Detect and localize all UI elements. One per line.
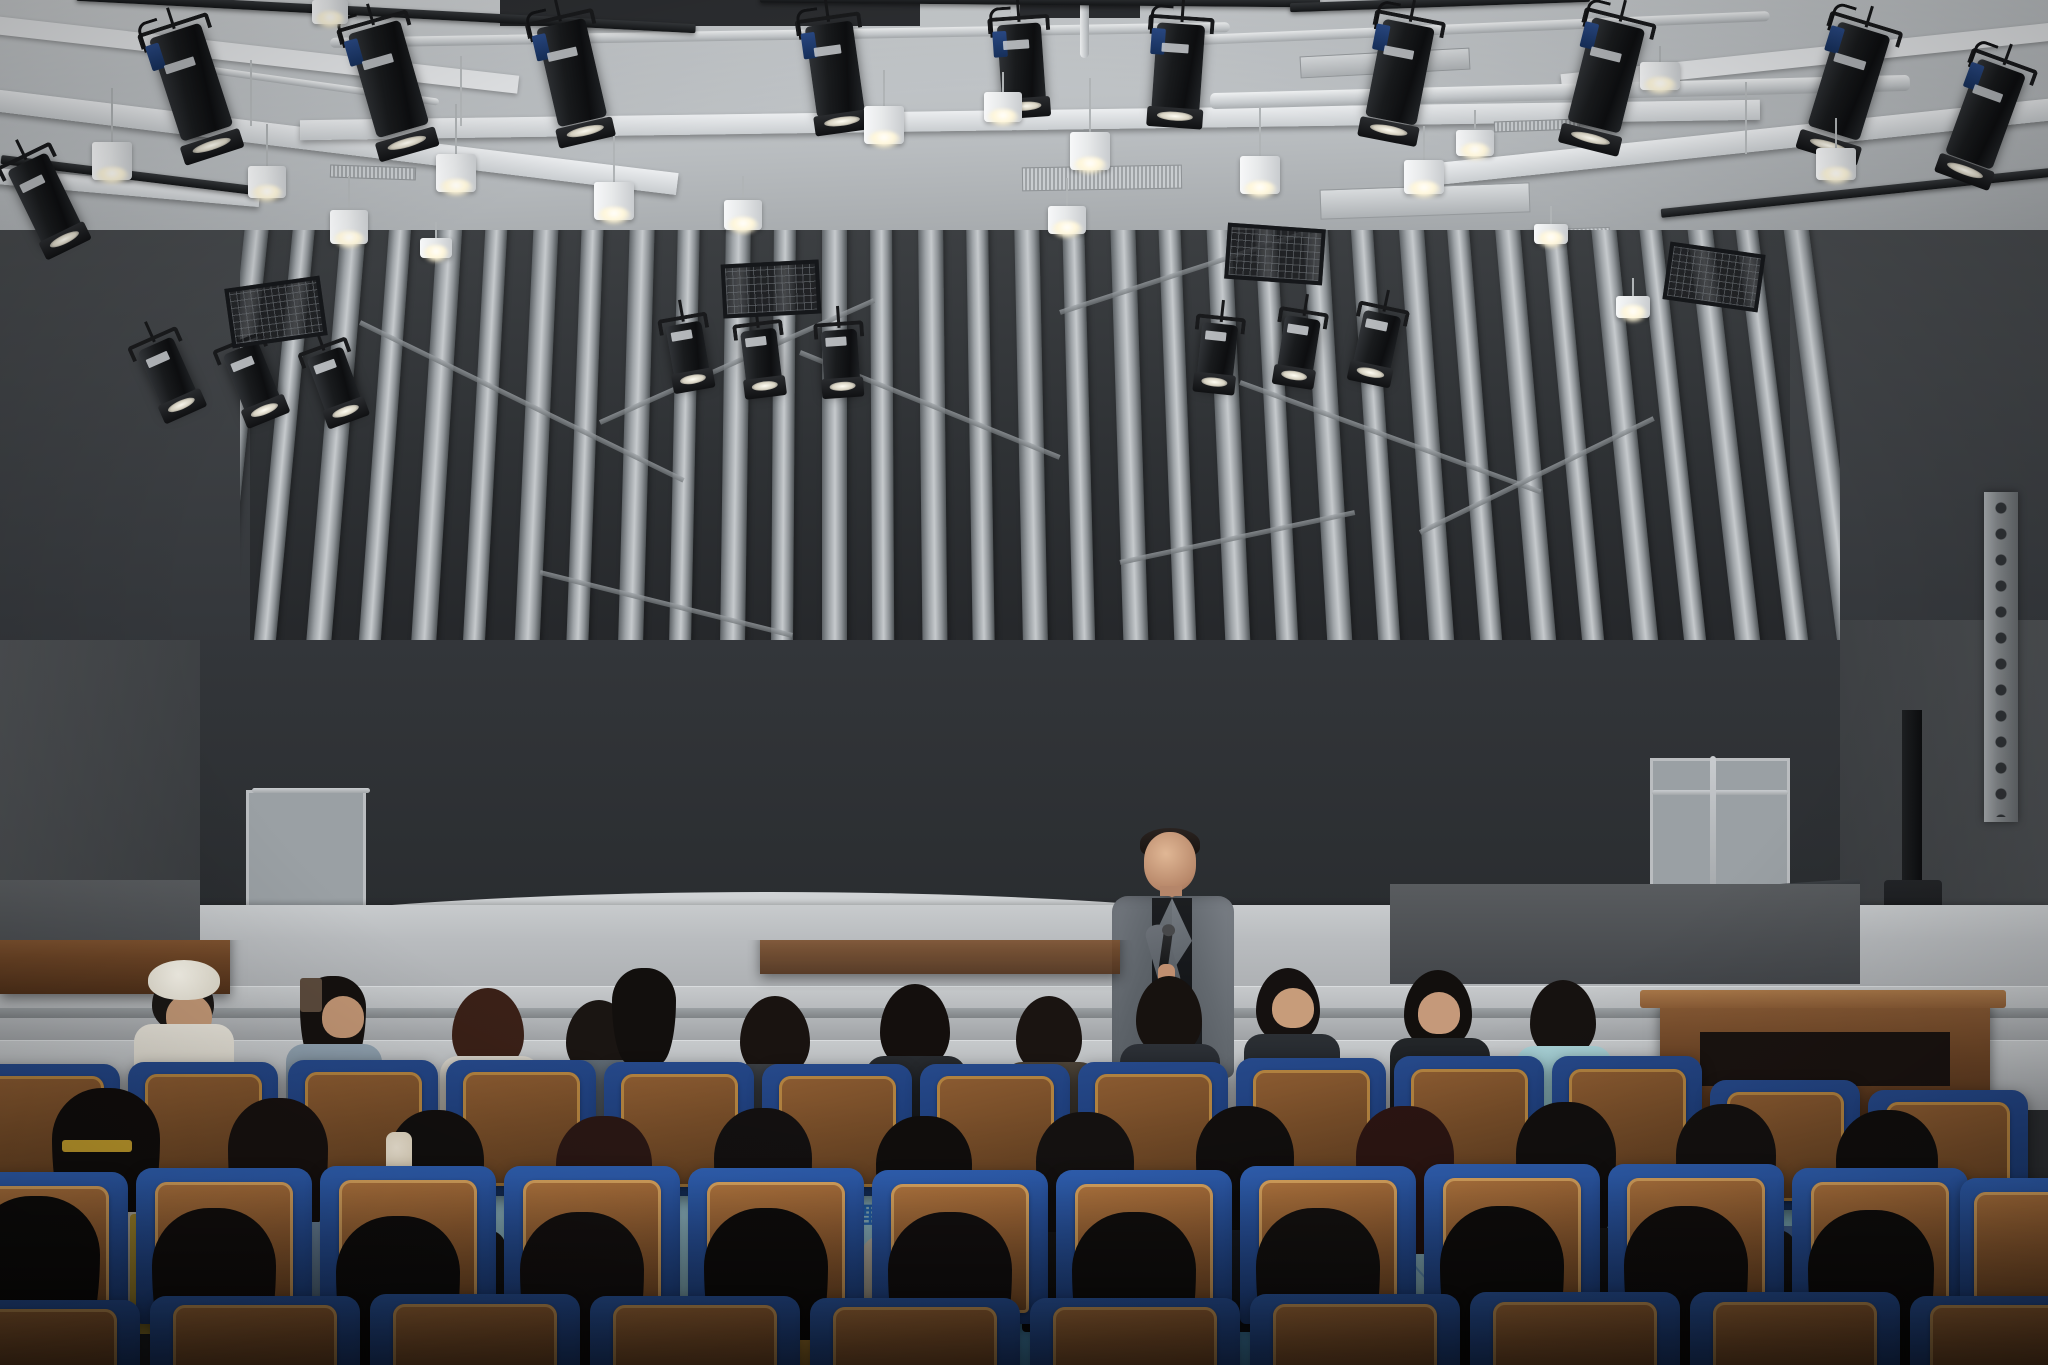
ceiling-downlight — [1816, 118, 1856, 180]
ceiling-downlight — [724, 176, 762, 230]
ceiling-downlight — [984, 72, 1022, 122]
audience-seat[interactable] — [1030, 1298, 1240, 1365]
audience-person-face — [1418, 992, 1460, 1034]
ceiling-downlight — [92, 88, 132, 180]
audience-person-head — [1136, 976, 1202, 1054]
audience-person-head — [1016, 996, 1082, 1072]
ceiling-downlight — [1534, 206, 1568, 244]
ceiling-downlight — [1616, 278, 1650, 318]
audience-seat[interactable] — [1250, 1294, 1460, 1365]
audience-seat[interactable] — [1470, 1292, 1680, 1365]
auditorium-photo-scene: 经济管理学院 2024届毕业生就业推进会 经济管理学院 2024届毕业生就业推进… — [0, 0, 2048, 1365]
audience-seat[interactable] — [0, 1300, 140, 1365]
ceiling-downlight — [594, 136, 634, 220]
ceiling-downlight — [312, 0, 348, 24]
ceiling-pipe-vertical — [1080, 0, 1089, 58]
audience-area — [0, 940, 2048, 1365]
caged-light — [721, 259, 822, 318]
ceiling-downlight — [1240, 108, 1280, 194]
stage-spotlight — [812, 304, 868, 393]
ceiling-downlight — [1456, 110, 1494, 156]
hair-clip — [300, 978, 322, 1012]
audience-seat[interactable] — [150, 1296, 360, 1365]
audience-person-head — [1530, 980, 1596, 1056]
audience-person-face — [322, 996, 364, 1038]
hanger-rod — [250, 60, 252, 126]
led-video-wall: 经济管理学院 2024届毕业生就业推进会 经济管理学院 2024届毕业生就业推进… — [0, 520, 2048, 940]
ceiling-soffit — [0, 12, 519, 93]
white-beret-hat — [148, 960, 220, 1000]
hair-tie — [62, 1140, 132, 1152]
stage-spotlight — [1142, 0, 1216, 124]
wooden-ledge-center — [760, 940, 1120, 974]
ceiling-downlight — [420, 222, 452, 258]
podium-top-surface — [1640, 990, 2006, 1008]
ceiling-downlight — [436, 104, 476, 192]
ceiling-downlight — [1048, 178, 1086, 234]
audience-seat[interactable] — [1910, 1296, 2048, 1365]
ceiling-pipe — [330, 22, 1230, 48]
audience-seat[interactable] — [590, 1296, 800, 1365]
stage-spotlight — [1189, 297, 1248, 390]
perforated-steel-mast — [1984, 492, 2018, 822]
ceiling-downlight — [1640, 46, 1680, 90]
ceiling-downlight — [1404, 126, 1444, 194]
caged-light — [1224, 223, 1326, 286]
ceiling-downlight — [330, 176, 368, 244]
speaker-head — [1144, 832, 1196, 892]
ceiling-downlight — [248, 124, 286, 198]
audience-seat[interactable] — [1690, 1292, 1900, 1365]
audience-seat[interactable] — [370, 1294, 580, 1365]
podium-shelf — [1700, 1032, 1950, 1086]
ceiling-pipe — [1150, 11, 1770, 47]
audience-seat[interactable] — [810, 1298, 1020, 1365]
ceiling-downlight — [864, 70, 904, 144]
ceiling-downlight — [1070, 78, 1110, 170]
audience-person-face — [1272, 988, 1314, 1028]
hanger-rod — [1745, 82, 1747, 154]
audience-person-head — [612, 968, 676, 1064]
